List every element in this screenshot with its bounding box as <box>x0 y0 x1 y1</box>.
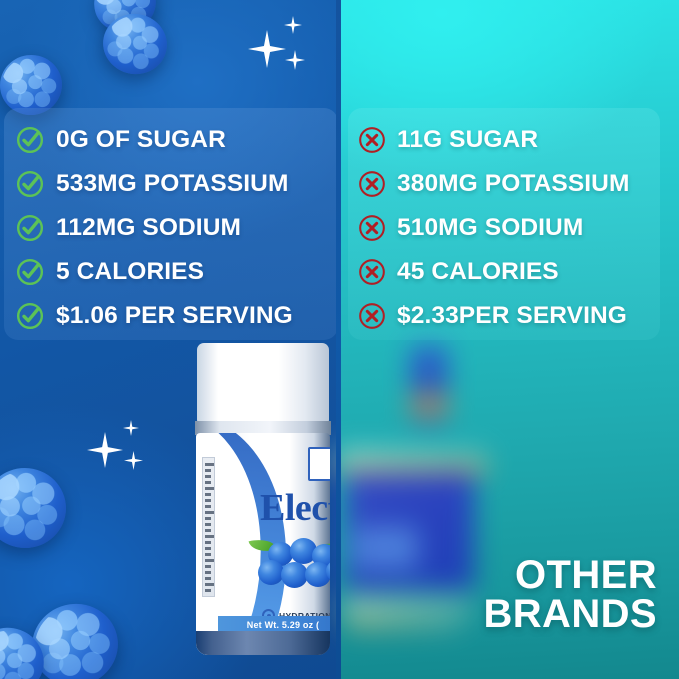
check-circle-icon <box>15 301 45 331</box>
jar-net-weight-text: Net Wt. 5.29 oz ( <box>247 620 319 630</box>
panel-divider <box>336 0 341 679</box>
other-brands-line-2: BRANDS <box>483 595 657 633</box>
our-product-benefit-card: 0G OF SUGAR 533MG POTASSIUM 112MG SODIUM… <box>4 108 338 340</box>
jar-brand-logo <box>308 447 330 481</box>
check-circle-icon <box>15 213 45 243</box>
check-circle-icon <box>15 169 45 199</box>
sparkle-icon <box>244 14 314 76</box>
benefit-row: $1.06 PER SERVING <box>4 294 338 338</box>
x-circle-icon <box>357 125 387 155</box>
competitor-product-blurred <box>344 344 484 664</box>
benefit-label: $1.06 PER SERVING <box>56 304 293 329</box>
benefit-label: 533MG POTASSIUM <box>56 172 288 197</box>
product-jar: Elect HYDRATION Net Wt. 5.29 oz ( <box>178 343 340 655</box>
drawback-label: 45 CALORIES <box>397 260 559 285</box>
jar-base <box>196 631 330 655</box>
benefit-label: 0G OF SUGAR <box>56 128 226 153</box>
blue-raspberry-icon <box>0 464 70 552</box>
benefit-row: 0G OF SUGAR <box>4 118 338 162</box>
jar-label: Elect HYDRATION Net Wt. 5.29 oz ( <box>196 433 330 655</box>
sparkle-icon <box>85 418 155 480</box>
comparison-infographic: Elect HYDRATION Net Wt. 5.29 oz ( <box>0 0 679 679</box>
jar-raspberry-illustration <box>250 536 330 592</box>
benefit-label: 5 CALORIES <box>56 260 204 285</box>
x-circle-icon <box>357 257 387 287</box>
drawback-row: 380MG POTASSIUM <box>348 162 660 206</box>
drawback-label: 510MG SODIUM <box>397 216 583 241</box>
drawback-row: 510MG SODIUM <box>348 206 660 250</box>
benefit-row: 112MG SODIUM <box>4 206 338 250</box>
benefit-label: 112MG SODIUM <box>56 216 241 241</box>
jar-lid <box>197 343 329 423</box>
other-brands-drawback-card: 11G SUGAR 380MG POTASSIUM 510MG SODIUM 4… <box>348 108 660 340</box>
check-circle-icon <box>15 125 45 155</box>
other-brands-line-1: OTHER <box>483 556 657 594</box>
drawback-label: $2.33PER SERVING <box>397 304 627 329</box>
x-circle-icon <box>357 169 387 199</box>
x-circle-icon <box>357 213 387 243</box>
benefit-row: 5 CALORIES <box>4 250 338 294</box>
supplement-facts-panel <box>202 457 215 597</box>
drawback-row: 11G SUGAR <box>348 118 660 162</box>
drawback-label: 11G SUGAR <box>397 128 538 153</box>
other-brands-heading: OTHER BRANDS <box>483 556 657 633</box>
check-circle-icon <box>15 257 45 287</box>
benefit-row: 533MG POTASSIUM <box>4 162 338 206</box>
drawback-label: 380MG POTASSIUM <box>397 172 629 197</box>
drawback-row: $2.33PER SERVING <box>348 294 660 338</box>
jar-product-name: Elect <box>260 489 330 527</box>
drawback-row: 45 CALORIES <box>348 250 660 294</box>
x-circle-icon <box>357 301 387 331</box>
